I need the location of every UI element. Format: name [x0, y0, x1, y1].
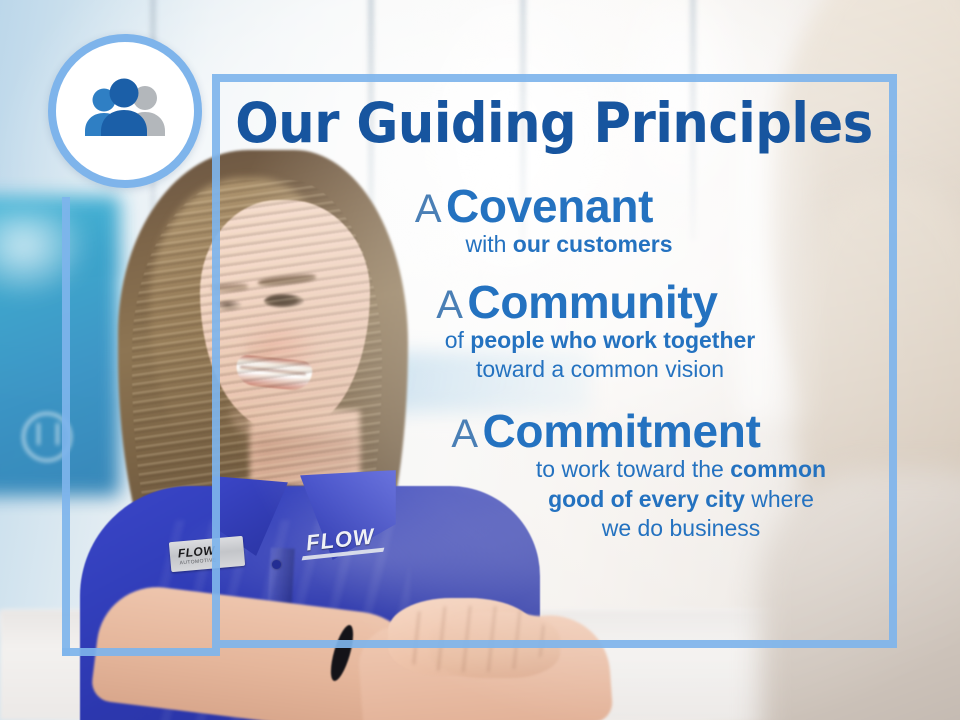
principle-article: A	[436, 283, 463, 327]
screen-glare	[0, 210, 90, 300]
principle-article: A	[415, 187, 442, 231]
description-line: to work toward the common	[478, 455, 884, 484]
description-line: we do business	[478, 514, 884, 543]
decorative-frame-bottom-leg	[62, 648, 220, 656]
principle-heading: A Community	[270, 278, 884, 326]
principle-description: with our customers	[212, 230, 856, 259]
principle-heading: A Covenant	[212, 182, 856, 230]
principles-list: A Covenant with our customers A Communit…	[212, 182, 884, 548]
description-line: with our customers	[282, 230, 856, 259]
principle-commitment: A Commitment to work toward the commongo…	[212, 407, 884, 544]
poster-graphic: FLOW AUTOMOTIVE FLOW	[0, 0, 960, 720]
principle-description: of people who work togethertoward a comm…	[270, 326, 884, 385]
principle-description: to work toward the commongood of every c…	[328, 455, 884, 543]
poster-title: Our Guiding Principles	[235, 96, 853, 151]
principle-keyword: Covenant	[446, 180, 653, 232]
principle-covenant: A Covenant with our customers	[212, 182, 884, 260]
employee-fingers	[396, 606, 546, 672]
description-line: toward a common vision	[316, 355, 884, 384]
description-line: good of every city where	[478, 485, 884, 514]
principle-article: A	[451, 412, 478, 456]
polo-button	[272, 560, 281, 569]
icon-badge	[48, 34, 202, 188]
group-of-people-icon	[56, 42, 194, 180]
principle-community: A Community of people who work togethert…	[212, 278, 884, 385]
principle-keyword: Commitment	[483, 405, 761, 457]
decorative-frame-left-leg	[62, 197, 70, 656]
principle-keyword: Community	[467, 276, 717, 328]
principle-heading: A Commitment	[328, 407, 884, 455]
description-line: of people who work together	[316, 326, 884, 355]
